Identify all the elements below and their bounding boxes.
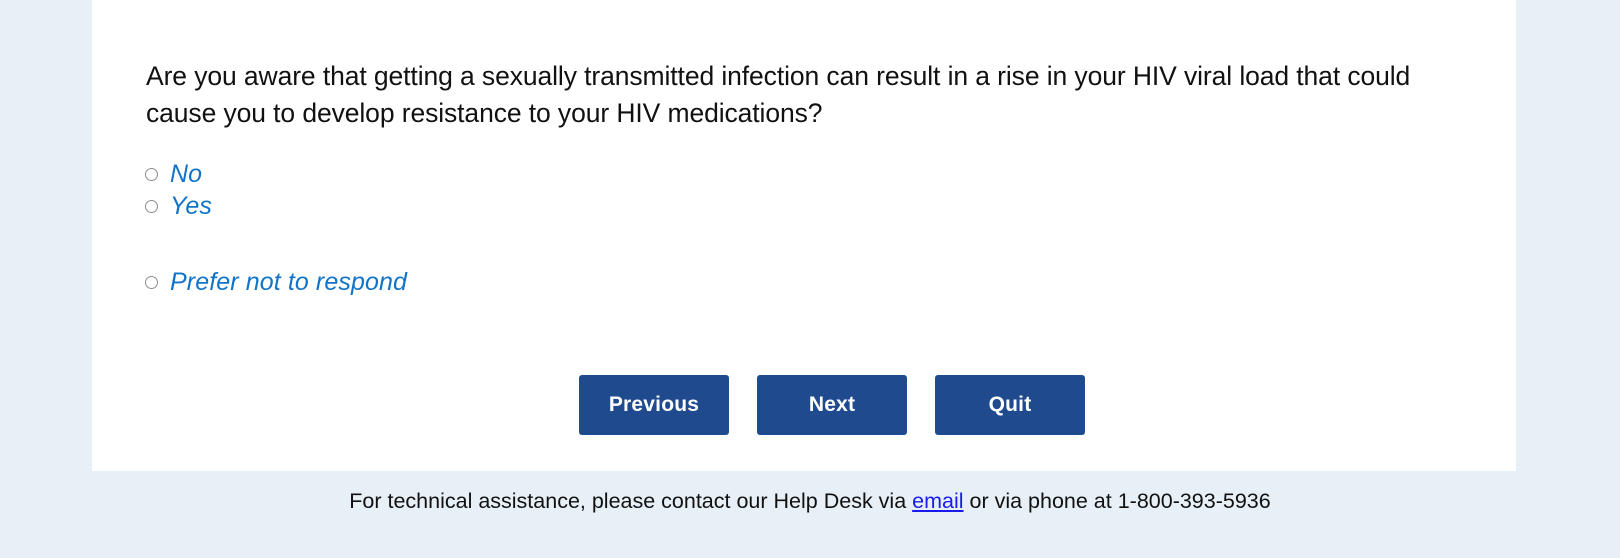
help-desk-text-before-link: For technical assistance, please contact… xyxy=(349,489,912,513)
radio-no-icon[interactable] xyxy=(145,168,158,181)
help-desk-footer: For technical assistance, please contact… xyxy=(0,471,1620,558)
survey-card: Are you aware that getting a sexually tr… xyxy=(92,0,1516,471)
option-yes-label: Yes xyxy=(170,191,212,221)
next-button[interactable]: Next xyxy=(757,375,907,435)
question-text: Are you aware that getting a sexually tr… xyxy=(146,58,1416,132)
help-desk-text-after-link: or via phone at 1-800-393-5936 xyxy=(964,489,1271,513)
navigation-buttons: Previous Next Quit xyxy=(92,375,1516,435)
answer-options-group: No Yes Prefer not to respond xyxy=(145,158,845,298)
radio-yes-icon[interactable] xyxy=(145,200,158,213)
option-prefer-not-to-respond[interactable]: Prefer not to respond xyxy=(145,266,845,298)
survey-page: Are you aware that getting a sexually tr… xyxy=(0,0,1620,558)
quit-button[interactable]: Quit xyxy=(935,375,1085,435)
help-desk-email-link[interactable]: email xyxy=(912,489,963,513)
help-desk-text: For technical assistance, please contact… xyxy=(349,487,1270,515)
option-prefer-not-to-respond-label: Prefer not to respond xyxy=(170,267,407,297)
option-yes[interactable]: Yes xyxy=(145,190,845,222)
option-no-label: No xyxy=(170,159,202,189)
radio-prefer-not-to-respond-icon[interactable] xyxy=(145,276,158,289)
previous-button[interactable]: Previous xyxy=(579,375,729,435)
option-no[interactable]: No xyxy=(145,158,845,190)
